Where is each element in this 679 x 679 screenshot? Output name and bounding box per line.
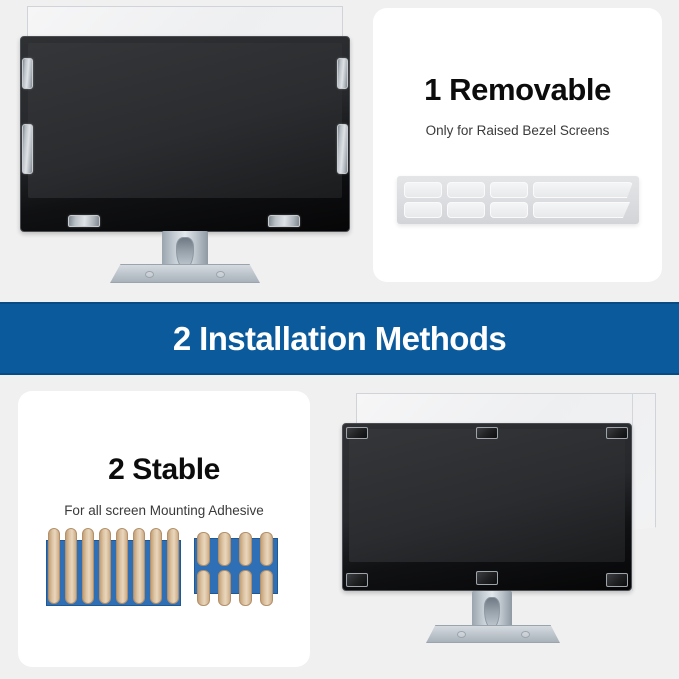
stand-cable-slot [484,597,500,629]
monitor [330,375,679,679]
adhesive-strip [48,528,60,604]
adhesive-strip [116,528,128,604]
adhesive-pad-top-center [476,427,498,439]
panel-removable: 1 Removable Only for Raised Bezel Screen… [370,0,679,302]
adhesive-pad-bottom-center [476,571,498,585]
clip-cell [490,182,528,198]
monitor [0,0,370,302]
stand-screw-right [521,631,530,638]
adhesive-strip-row-product [46,528,181,610]
monitor-screen [342,423,632,591]
removable-subtitle: Only for Raised Bezel Screens [373,123,662,138]
removable-title: 1 Removable [373,72,662,108]
adhesive-pad-bottom-right [606,573,628,587]
adhesive-strip [99,528,111,604]
stable-subtitle: For all screen Mounting Adhesive [18,503,310,518]
clip-long-cell [533,202,633,218]
mounting-clip-left-lower [22,124,33,174]
monitor-screen [20,36,350,232]
adhesive-pad-bottom-left [346,573,368,587]
mounting-clip-right-upper [337,58,348,89]
clip-cell [404,182,442,198]
clip-strip-product [397,176,639,224]
mounting-clip-bottom-left [68,215,100,227]
clip-cell [447,202,485,218]
stable-title: 2 Stable [18,453,310,487]
illustration-monitor-clip-mount [0,0,370,302]
adhesive-strip [218,570,231,606]
adhesive-strip [65,528,77,604]
adhesive-strip [218,532,231,566]
clip-cell [404,202,442,218]
adhesive-pad-top-right [606,427,628,439]
screen-glass [28,43,343,198]
illustration-monitor-adhesive-mount [330,375,679,679]
removable-card: 1 Removable Only for Raised Bezel Screen… [373,8,662,282]
adhesive-strip [260,570,273,606]
screen-glass [349,429,625,562]
adhesive-strip-grid-product [194,532,278,608]
stand-screw-right [216,271,225,278]
mounting-clip-bottom-right [268,215,300,227]
infographic-canvas: 1 Removable Only for Raised Bezel Screen… [0,0,679,679]
mounting-clip-right-lower [337,124,348,174]
adhesive-strip [133,528,145,604]
panel-stable: 2 Stable For all screen Mounting Adhesiv… [0,375,330,679]
adhesive-strip [197,532,210,566]
filter-slide-guide [632,393,633,591]
stand-screw-left [145,271,154,278]
banner-title: 2 Installation Methods [173,320,506,358]
clip-long-cell [533,182,633,198]
section-banner: 2 Installation Methods [0,302,679,375]
adhesive-strip [239,570,252,606]
clip-cell [490,202,528,218]
monitor-stand-base [110,264,260,283]
adhesive-strip [197,570,210,606]
adhesive-strip [82,528,94,604]
adhesive-strip [167,528,179,604]
adhesive-pad-top-left [346,427,368,439]
monitor-stand-base [426,625,560,643]
stand-screw-left [457,631,466,638]
adhesive-strip [150,528,162,604]
mounting-clip-left-upper [22,58,33,89]
clip-cell [447,182,485,198]
adhesive-strip [260,532,273,566]
adhesive-strip [239,532,252,566]
